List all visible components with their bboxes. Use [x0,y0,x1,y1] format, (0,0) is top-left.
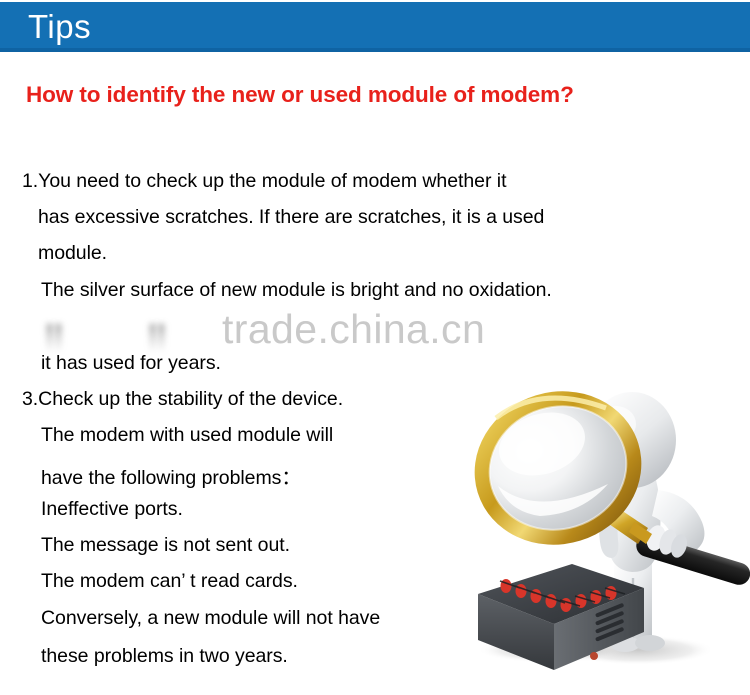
modem-power-led [590,652,598,660]
body-line: The modem can’ t read cards. [41,570,298,593]
ghost-stroke [47,324,52,352]
illustration-person-with-magnifier-and-modem [462,382,750,678]
tips-banner: Tips [0,2,750,52]
body-line: Conversely, a new module will not have [41,607,380,630]
ghost-stroke [56,324,61,352]
ghost-stroke [159,324,164,352]
body-line: 1.You need to check up the module of mod… [22,170,506,193]
body-line: The message is not sent out. [41,534,290,557]
figure-foot-right [635,635,665,651]
banner-title: Tips [28,7,91,47]
body-line: module. [38,242,107,265]
body-line: 3.Check up the stability of the device. [22,388,343,411]
body-line: these problems in two years. [41,645,288,668]
banner-bottom-edge [0,48,750,52]
watermark: trade.china.cn [222,306,485,352]
body-line: Ineffective ports. [41,498,183,521]
body-line: has excessive scratches. If there are sc… [38,206,544,229]
body-line: have the following problems： [41,461,301,490]
page-title: How to identify the new or used module o… [26,82,574,108]
body-line: it has used for years. [41,352,221,375]
body-line: The modem with used module will [41,424,333,447]
body-line: The silver surface of new module is brig… [41,279,552,302]
ghost-stroke [150,324,155,352]
